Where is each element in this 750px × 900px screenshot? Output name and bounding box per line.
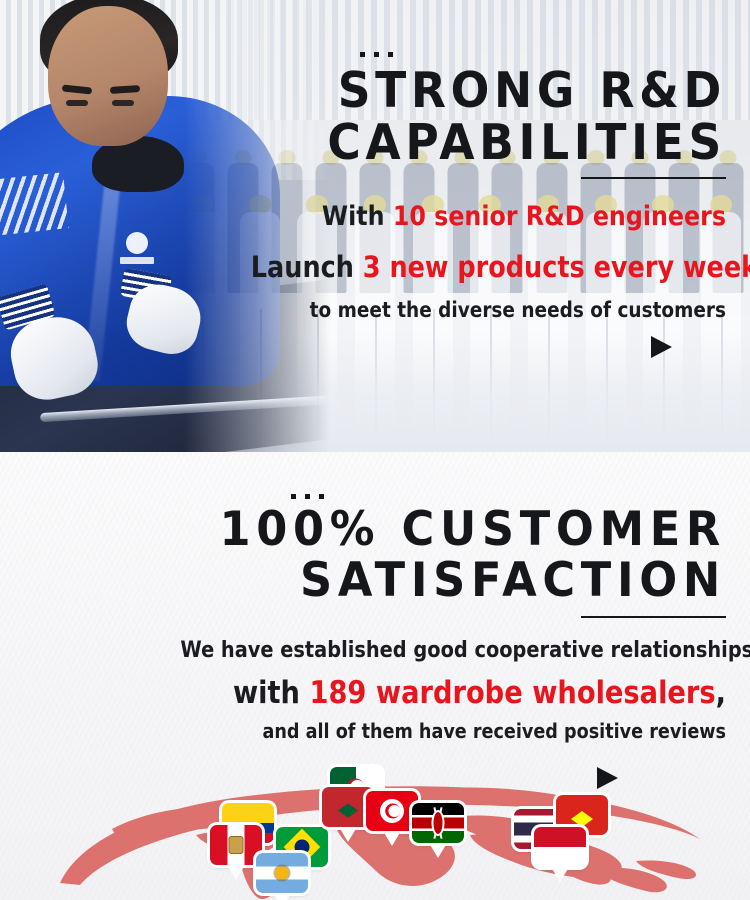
line-prefix: We have established good cooperative rel… [180, 638, 750, 663]
headline-rule [581, 616, 726, 618]
body-line-1: With 10 senior R&D engineers [251, 201, 726, 232]
headline-line-1: STRONG R&D [338, 62, 726, 119]
body-line-2: Launch 3 new products every week [251, 250, 726, 284]
flag-pin-kenya[interactable] [412, 803, 464, 843]
dot-icon [360, 52, 365, 57]
body-line-3: to meet the diverse needs of customers [251, 298, 726, 322]
dot-icon [305, 494, 310, 499]
flag-pin-tunisia[interactable] [366, 791, 418, 831]
top-text-block: STRONG R&D CAPABILITIES With 10 senior R… [186, 0, 726, 358]
flag-pin-tail [227, 865, 245, 880]
flag-pin-tail [551, 867, 569, 882]
worker-face [48, 6, 168, 146]
promo-page: STRONG R&D CAPABILITIES With 10 senior R… [0, 0, 750, 900]
page-title-bottom: 100% CUSTOMER SATISFACTION [137, 507, 726, 604]
play-triangle-icon [651, 336, 672, 358]
line-emphasis: 10 senior R&D engineers [393, 201, 726, 232]
flag-kenya-icon [412, 803, 464, 843]
body-line-1: We have established good cooperative rel… [180, 638, 726, 663]
line-prefix: Launch [251, 250, 363, 284]
decor-dots [186, 0, 726, 57]
body-line-2: with 189 wardrobe wholesalers, [180, 675, 726, 711]
flag-argentina-icon [256, 853, 308, 893]
flag-pin-argentina[interactable] [256, 853, 308, 893]
line-prefix: with [233, 675, 310, 711]
headline-rule [581, 177, 726, 179]
flag-pin-tail [339, 827, 357, 842]
dot-icon [374, 52, 379, 57]
headline-line-1: 100% CUSTOMER [220, 502, 726, 557]
flag-pin-indonesia[interactable] [534, 827, 586, 867]
dot-icon [388, 52, 393, 57]
flag-pin-tail [429, 843, 447, 858]
flag-pins [0, 765, 750, 900]
line-suffix: , [716, 675, 726, 711]
flag-indonesia-icon [534, 827, 586, 867]
eye-left [66, 100, 88, 106]
flag-tunisia-icon [366, 791, 418, 831]
logo-mark-icon [126, 232, 148, 254]
line-emphasis: 189 wardrobe wholesalers [309, 675, 715, 711]
page-title-top: STRONG R&D CAPABILITIES [224, 67, 726, 166]
eye-right [112, 100, 134, 106]
line-prefix: and all of them have received positive r… [263, 719, 726, 743]
flag-pin-peru[interactable] [210, 825, 262, 865]
line-prefix: With [322, 201, 393, 232]
jacket-logo [116, 228, 158, 268]
panel-strong-rd-capabilities: STRONG R&D CAPABILITIES With 10 senior R… [0, 0, 750, 452]
line-prefix: to meet the diverse needs of customers [310, 298, 726, 322]
flag-pin-tail [273, 893, 291, 900]
flag-peru-icon [210, 825, 262, 865]
panel-customer-satisfaction: 100% CUSTOMER SATISFACTION We have estab… [0, 452, 750, 900]
logo-wordmark [120, 257, 154, 264]
flag-pin-tail [383, 831, 401, 846]
body-line-3: and all of them have received positive r… [180, 719, 726, 743]
decor-dots [106, 452, 726, 499]
line-emphasis: 3 new products every week [363, 250, 750, 284]
headline-line-2: CAPABILITIES [224, 119, 726, 167]
bottom-text-block: 100% CUSTOMER SATISFACTION We have estab… [106, 452, 726, 789]
sleeve-stripes [0, 172, 69, 235]
arrow-row [186, 322, 726, 358]
dot-icon [319, 494, 324, 499]
top-body-lines: With 10 senior R&D engineers Launch 3 ne… [186, 201, 726, 358]
headline-line-2: SATISFACTION [137, 558, 726, 604]
dot-icon [291, 494, 296, 499]
